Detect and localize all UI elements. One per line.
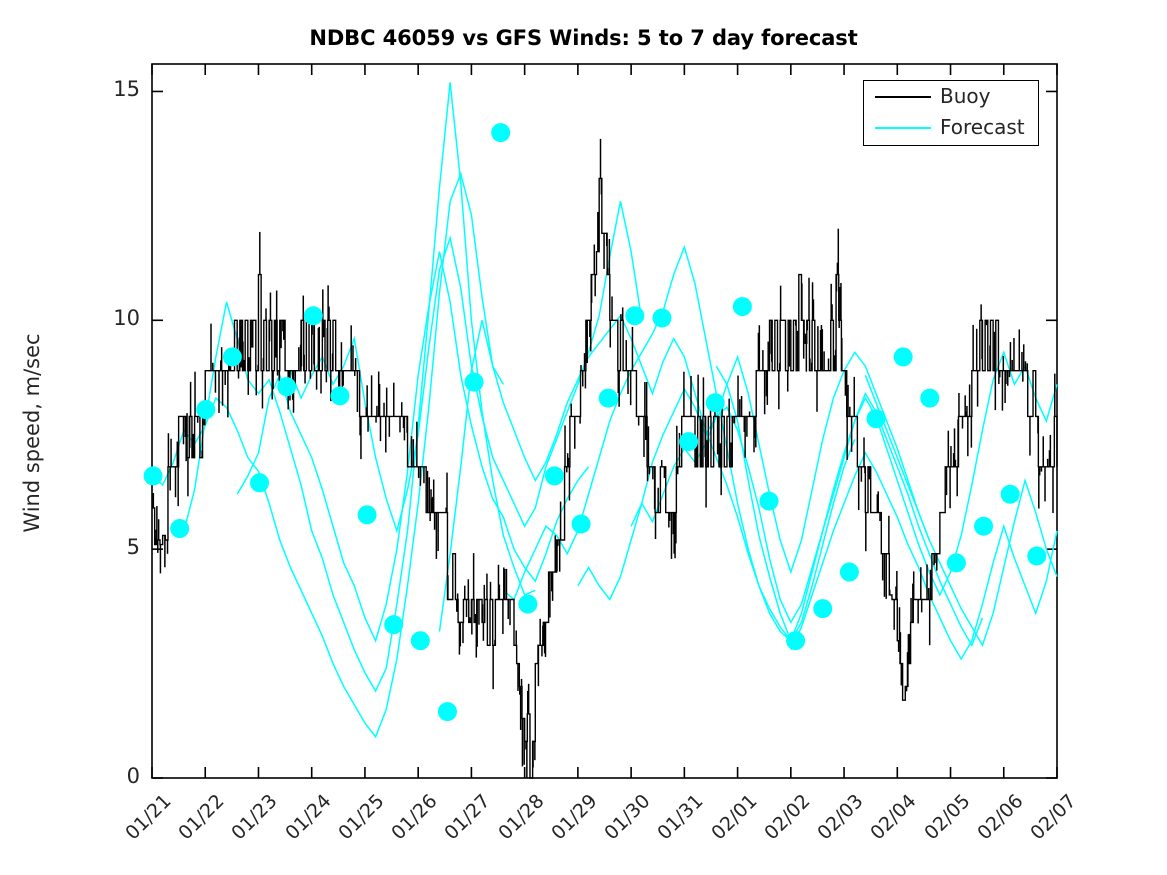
legend[interactable]: Buoy Forecast xyxy=(863,80,1039,146)
legend-item-buoy: Buoy xyxy=(864,81,1038,113)
y-tick-label: 10 xyxy=(100,306,140,330)
legend-item-forecast: Forecast xyxy=(864,112,1038,144)
legend-swatch-forecast xyxy=(875,127,931,129)
legend-swatch-buoy xyxy=(875,96,931,98)
y-tick-label: 0 xyxy=(100,764,140,788)
axes-frame xyxy=(152,64,1057,778)
y-tick-label: 5 xyxy=(100,535,140,559)
legend-label-forecast: Forecast xyxy=(940,115,1025,139)
y-tick-label: 15 xyxy=(100,77,140,101)
figure-container: NDBC 46059 vs GFS Winds: 5 to 7 day fore… xyxy=(0,0,1167,875)
legend-label-buoy: Buoy xyxy=(940,84,990,108)
